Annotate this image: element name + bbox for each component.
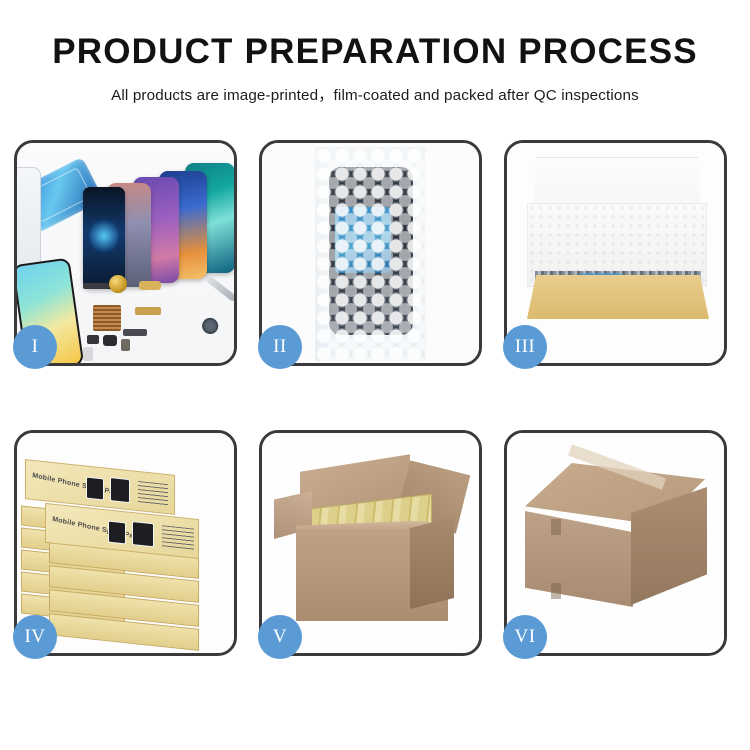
small-part-b-icon xyxy=(103,335,117,346)
carton-side-icon xyxy=(410,517,454,609)
step-panel-3: III xyxy=(504,140,727,366)
box-stack: Mobile Phone Spare Parts Mobile Phone Sp… xyxy=(19,449,233,645)
sealed-carton-front-icon xyxy=(525,511,633,607)
repair-tool-icon xyxy=(205,275,234,303)
product-preparation-infographic: PRODUCT PREPARATION PROCESS All products… xyxy=(0,0,750,750)
box-screen-graphic-2a xyxy=(108,521,126,545)
step-panel-6: VI xyxy=(504,430,727,656)
gold-flex-icon xyxy=(135,307,161,315)
step-badge-3: III xyxy=(503,325,547,369)
step-badge-2: II xyxy=(258,325,302,369)
page-subtitle: All products are image-printed，film-coat… xyxy=(0,83,750,105)
step-badge-6: VI xyxy=(503,615,547,659)
step-panel-1: I xyxy=(14,140,237,366)
step-panel-5: V xyxy=(259,430,482,656)
box-spec-lines-2 xyxy=(162,525,194,550)
box-screen-graphic-1b xyxy=(110,477,130,503)
kraft-tray-icon xyxy=(527,275,709,319)
connector-icon xyxy=(139,281,161,290)
step-panel-4: Mobile Phone Spare Parts Mobile Phone Sp… xyxy=(14,430,237,656)
bubble-wrap-layer-2-icon xyxy=(324,156,436,361)
box-screen-graphic-2b xyxy=(132,521,154,547)
process-steps-grid: I II III xyxy=(14,140,736,656)
small-part-a-icon xyxy=(87,335,99,344)
step-badge-5: V xyxy=(258,615,302,659)
box-screen-graphic-1a xyxy=(86,477,104,501)
carton-seam-bottom-icon xyxy=(551,583,561,599)
page-title: PRODUCT PREPARATION PROCESS xyxy=(0,34,750,71)
step-panel-2: II xyxy=(259,140,482,366)
speaker-coil-icon xyxy=(109,275,127,293)
step-badge-4: IV xyxy=(13,615,57,659)
tempered-glass-icon xyxy=(17,167,41,273)
flex-cable-icon xyxy=(83,283,109,289)
header: PRODUCT PREPARATION PROCESS All products… xyxy=(0,0,750,105)
carton-seam-top-icon xyxy=(551,519,561,535)
copper-mesh-icon xyxy=(93,305,121,331)
small-part-d-icon xyxy=(83,347,93,361)
phone-screen-fan xyxy=(79,157,234,277)
box-label-text-2: Mobile Phone Spare Parts xyxy=(52,516,143,542)
spare-parts-group xyxy=(75,273,234,363)
small-part-c-icon xyxy=(121,339,130,351)
box-spec-lines-1 xyxy=(138,481,168,506)
ribbon-cable-icon xyxy=(123,329,147,336)
step-badge-1: I xyxy=(13,325,57,369)
